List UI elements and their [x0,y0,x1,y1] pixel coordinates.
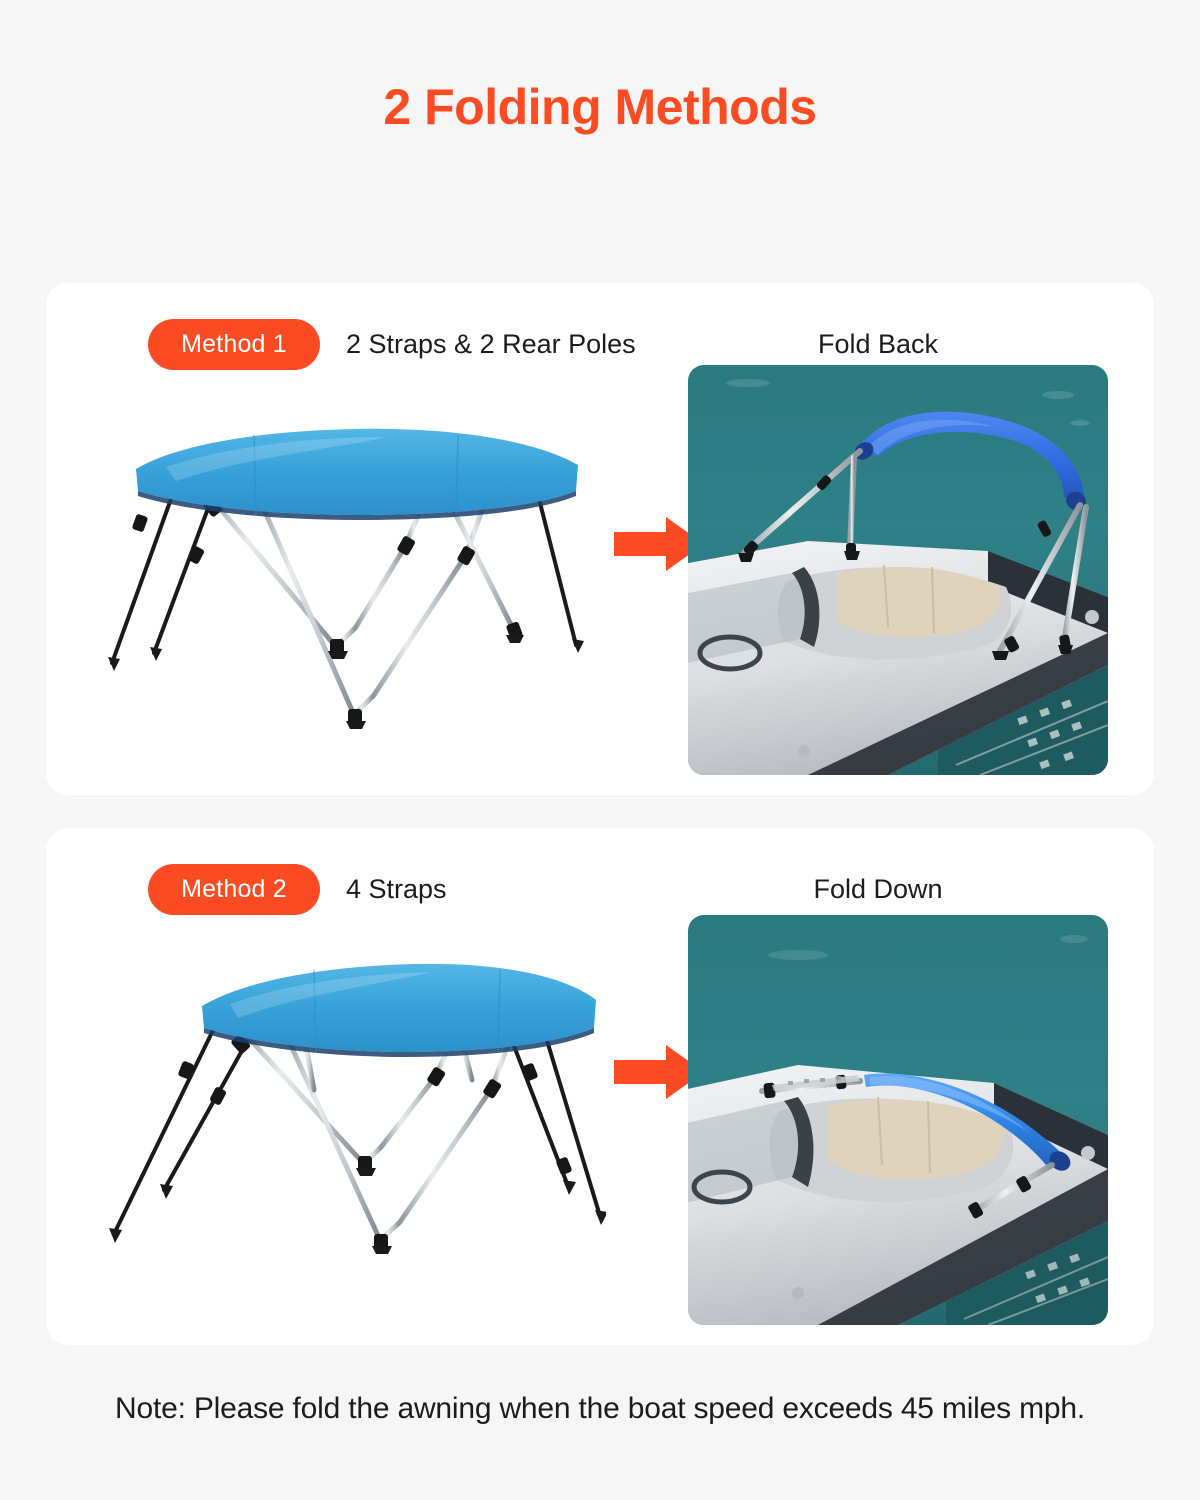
method-2-fold-label: Fold Down [748,864,1008,915]
photo-fold-down [688,915,1108,1325]
strap-group [112,485,216,663]
method-1-badge: Method 1 [148,319,320,370]
method-1-description: 2 Straps & 2 Rear Poles [346,319,636,370]
method-2-description: 4 Straps [346,864,447,915]
method-card-1: Method 1 2 Straps & 2 Rear Poles Fold Ba… [46,283,1154,795]
bimini-illustration-method-1 [106,395,606,755]
method-1-header: Method 1 2 Straps & 2 Rear Poles Fold Ba… [148,319,1114,371]
photo-fold-back [688,365,1108,775]
method-card-2: Method 2 4 Straps Fold Down [46,828,1154,1345]
method-1-fold-label: Fold Back [748,319,1008,370]
bimini-illustration-method-2 [106,940,606,1300]
note-text: Note: Please fold the awning when the bo… [0,1392,1200,1426]
page-title: 2 Folding Methods [0,0,1200,132]
method-2-badge: Method 2 [148,864,320,915]
method-2-header: Method 2 4 Straps Fold Down [148,864,1114,916]
